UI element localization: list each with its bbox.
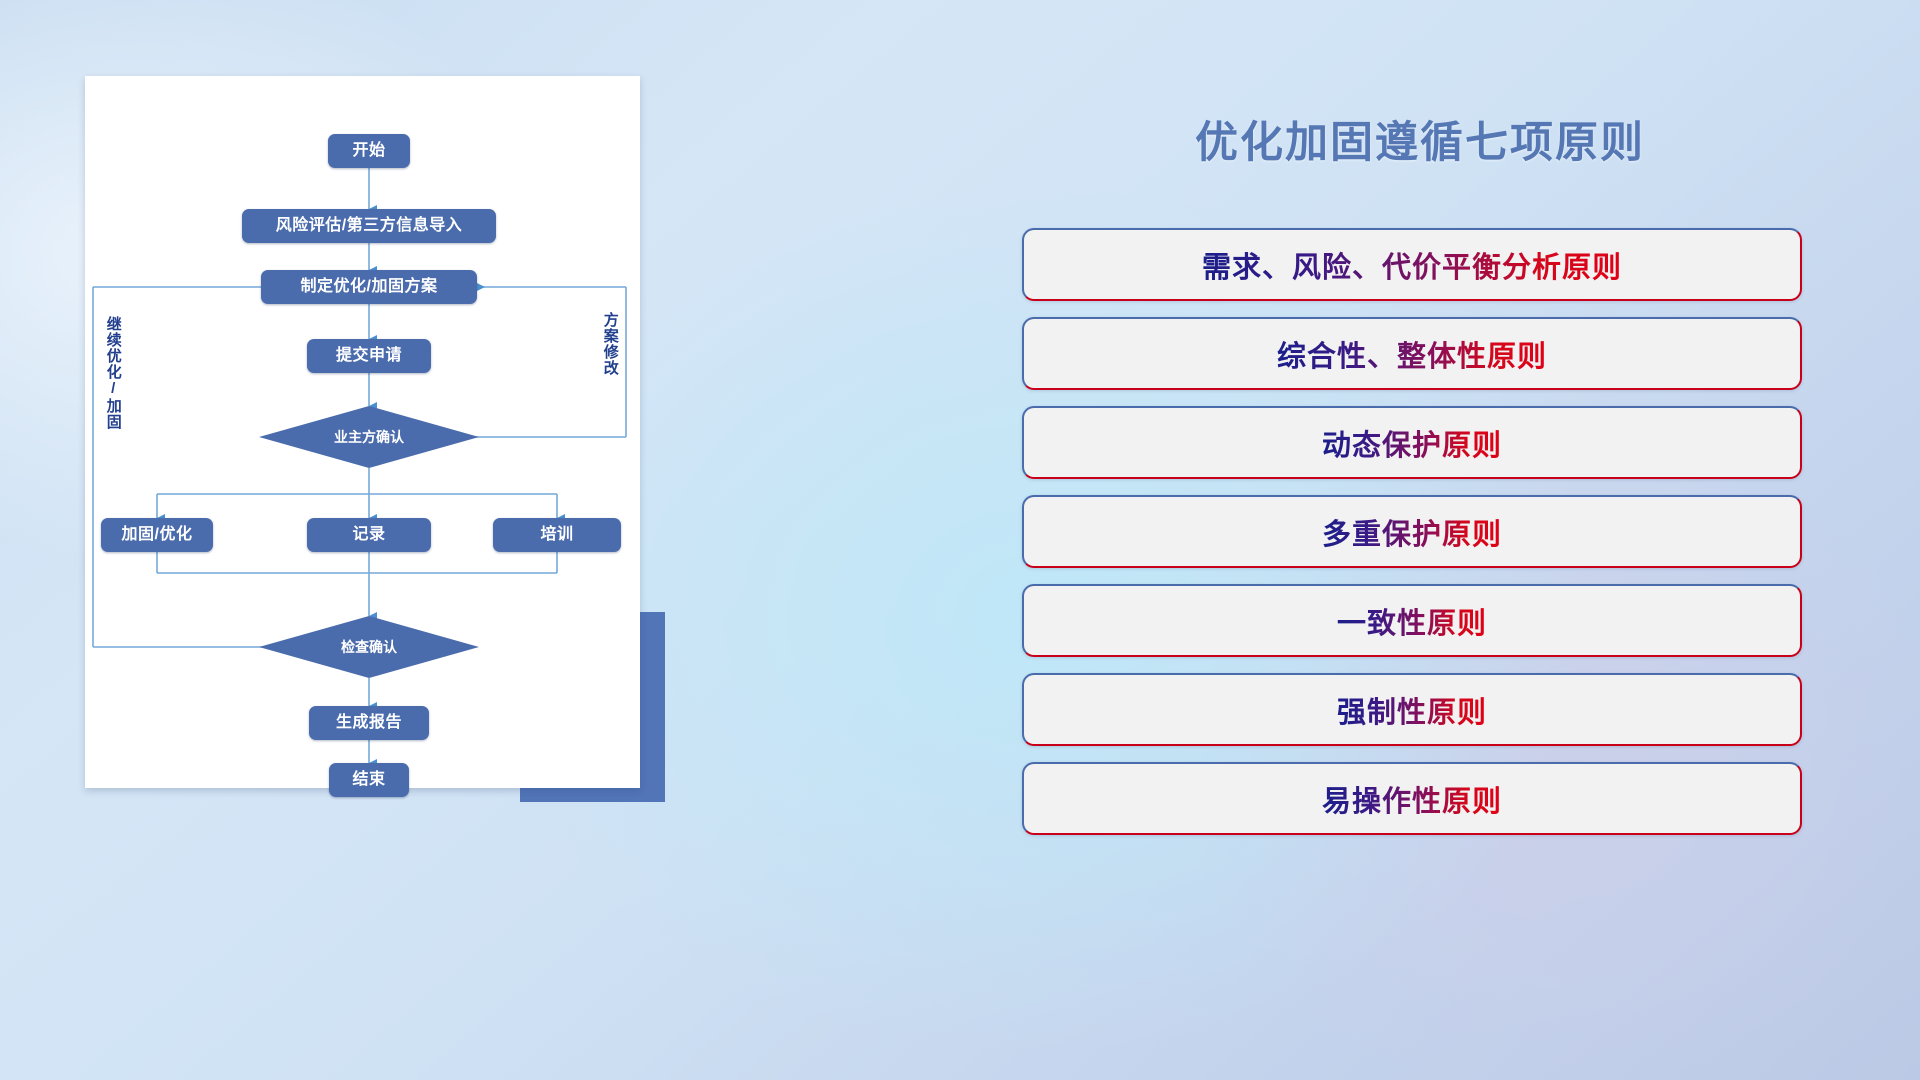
flow-node-record[interactable]: 记录 xyxy=(307,518,431,552)
page-title: 优化加固遵循七项原则 xyxy=(1020,108,1820,170)
flow-decision-owner-confirm[interactable]: 业主方确认 xyxy=(259,406,479,468)
flow-node-label: 培训 xyxy=(540,526,573,544)
principle-item[interactable]: 动态保护原则 xyxy=(1022,406,1802,479)
flow-node-start[interactable]: 开始 xyxy=(328,134,410,168)
flow-node-label: 提交申请 xyxy=(336,347,402,365)
flow-node-reinforce[interactable]: 加固/优化 xyxy=(101,518,213,552)
principle-item[interactable]: 多重保护原则 xyxy=(1022,495,1802,568)
flow-node-label: 业主方确认 xyxy=(334,427,404,447)
flow-node-training[interactable]: 培训 xyxy=(493,518,621,552)
principle-item[interactable]: 综合性、整体性原则 xyxy=(1022,317,1802,390)
principle-label: 动态保护原则 xyxy=(1322,422,1502,464)
principle-item[interactable]: 易操作性原则 xyxy=(1022,762,1802,835)
principle-label: 易操作性原则 xyxy=(1322,778,1502,820)
principles-list: 需求、风险、代价平衡分析原则 综合性、整体性原则 动态保护原则 多重保护原则 一… xyxy=(1022,228,1802,851)
flow-node-end[interactable]: 结束 xyxy=(329,763,409,797)
flow-node-label: 制定优化/加固方案 xyxy=(301,278,438,296)
flow-decision-check-confirm[interactable]: 检查确认 xyxy=(259,616,479,678)
principle-item[interactable]: 强制性原则 xyxy=(1022,673,1802,746)
flow-node-label: 结束 xyxy=(352,771,385,789)
slide-canvas: 开始 风险评估/第三方信息导入 制定优化/加固方案 提交申请 业主方确认 加固/… xyxy=(0,0,1920,1080)
flow-node-label: 检查确认 xyxy=(341,637,397,657)
principle-label: 多重保护原则 xyxy=(1322,511,1502,553)
flow-label-plan-revision: 方案修改 xyxy=(602,312,618,412)
principle-label: 强制性原则 xyxy=(1337,689,1487,731)
flow-node-label: 风险评估/第三方信息导入 xyxy=(276,217,462,235)
flow-node-label: 开始 xyxy=(352,142,385,160)
principle-item[interactable]: 一致性原则 xyxy=(1022,584,1802,657)
flow-node-label: 生成报告 xyxy=(336,714,402,732)
principle-label: 需求、风险、代价平衡分析原则 xyxy=(1202,244,1622,286)
flow-node-risk-assessment[interactable]: 风险评估/第三方信息导入 xyxy=(242,209,496,243)
flow-label-continue-optimize: 继续优化/加固 xyxy=(105,316,121,446)
flow-node-generate-report[interactable]: 生成报告 xyxy=(309,706,429,740)
flowchart-card: 开始 风险评估/第三方信息导入 制定优化/加固方案 提交申请 业主方确认 加固/… xyxy=(85,76,640,788)
principle-label: 综合性、整体性原则 xyxy=(1277,333,1547,375)
principle-item[interactable]: 需求、风险、代价平衡分析原则 xyxy=(1022,228,1802,301)
flow-node-label: 加固/优化 xyxy=(122,526,193,544)
flow-node-label: 记录 xyxy=(352,526,385,544)
principle-label: 一致性原则 xyxy=(1337,600,1487,642)
flow-node-plan[interactable]: 制定优化/加固方案 xyxy=(261,270,477,304)
flow-node-submit-application[interactable]: 提交申请 xyxy=(307,339,431,373)
